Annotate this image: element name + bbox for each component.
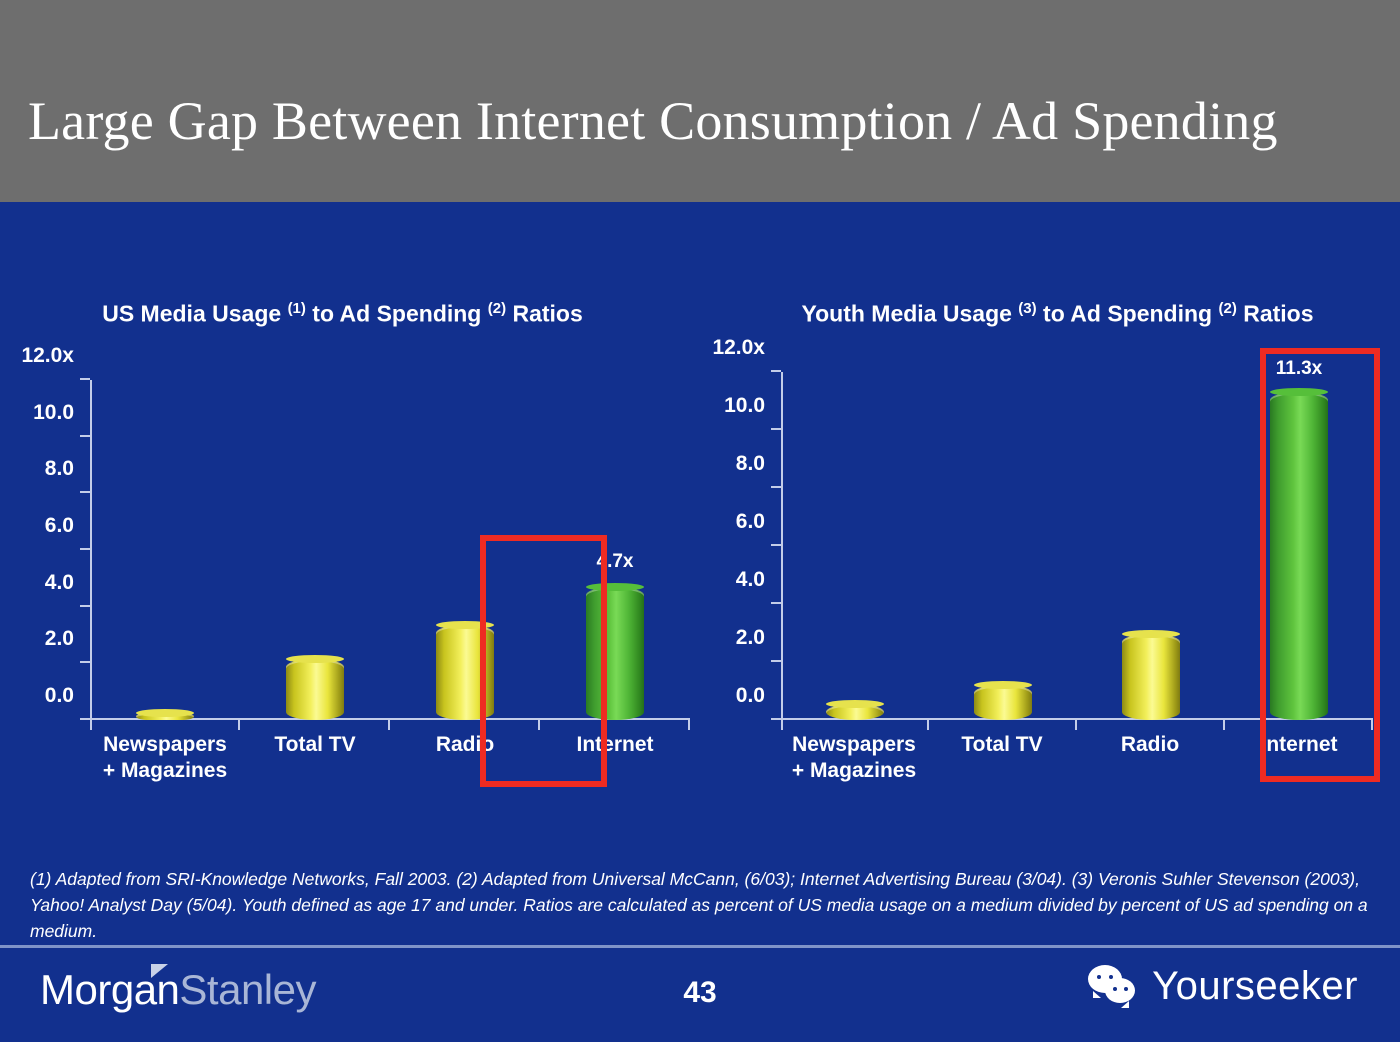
wechat-eye <box>1109 975 1113 979</box>
bar-newspapers-magazines <box>826 704 884 720</box>
y-tick-0 <box>771 718 781 720</box>
y-tick-0 <box>80 718 90 720</box>
chart-title-part-c: Ratios <box>506 301 583 327</box>
slide-header: Large Gap Between Internet Consumption /… <box>0 0 1400 202</box>
x-tick-0 <box>781 720 783 730</box>
x-tick-1 <box>927 720 929 730</box>
y-tick-label-2: 2.0 <box>45 627 74 651</box>
x-label-newspapers-magazines: Newspapers + Magazines <box>103 732 227 784</box>
highlight-box-internet <box>1260 348 1380 782</box>
chart-panel-youth-media-usage: Youth Media Usage (3) to Ad Spending (2)… <box>715 202 1400 842</box>
y-tick-8 <box>80 491 90 493</box>
y-tick-4 <box>771 602 781 604</box>
x-tick-0 <box>90 720 92 730</box>
y-tick-label-6: 6.0 <box>45 514 74 538</box>
y-tick-8 <box>771 486 781 488</box>
bar-total-tv <box>286 659 344 720</box>
footnote-ref-2b: (2) <box>1218 300 1236 317</box>
bar-cap <box>974 681 1032 689</box>
y-tick-6 <box>771 544 781 546</box>
y-tick-label-8: 8.0 <box>736 452 765 476</box>
chart-title-part-a: Youth Media Usage <box>801 301 1018 327</box>
x-tick-3 <box>1223 720 1225 730</box>
bar-total-tv <box>974 685 1032 720</box>
y-tick-6 <box>80 548 90 550</box>
wechat-eye <box>1124 987 1128 991</box>
bar-cap <box>826 700 884 708</box>
y-axis-line <box>781 372 783 720</box>
chart-title-part-a: US Media Usage <box>102 301 287 327</box>
footnote-ref-3: (3) <box>1018 300 1036 317</box>
y-tick-label-12: 12.0x <box>712 336 765 360</box>
footnotes: (1) Adapted from SRI-Knowledge Networks,… <box>30 866 1370 944</box>
x-label-total-tv: Total TV <box>961 732 1042 758</box>
y-tick-2 <box>771 660 781 662</box>
x-label-line-2: + Magazines <box>792 758 916 784</box>
bar-newspapers-magazines <box>136 713 194 720</box>
x-tick-1 <box>238 720 240 730</box>
wechat-eye <box>1097 975 1101 979</box>
y-tick-label-10: 10.0 <box>724 394 765 418</box>
y-tick-label-2: 2.0 <box>736 626 765 650</box>
bar-radio <box>1122 634 1180 720</box>
y-tick-12 <box>80 378 90 380</box>
yourseeker-brand: Yourseeker <box>1088 964 1358 1009</box>
y-tick-2 <box>80 661 90 663</box>
bar-cap <box>286 655 344 663</box>
x-label-line-1: Newspapers <box>103 732 227 758</box>
x-label-line-2: + Magazines <box>103 758 227 784</box>
x-label-radio: Radio <box>1121 732 1179 758</box>
wechat-bubble-small <box>1105 978 1135 1003</box>
wechat-icon <box>1088 965 1140 1009</box>
y-tick-label-8: 8.0 <box>45 457 74 481</box>
y-tick-label-6: 6.0 <box>736 510 765 534</box>
chart-title-part-b: to Ad Spending <box>306 301 488 327</box>
y-tick-label-0: 0.0 <box>45 684 74 708</box>
y-tick-4 <box>80 605 90 607</box>
wechat-eye <box>1113 987 1117 991</box>
y-tick-label-12: 12.0x <box>21 344 74 368</box>
x-tick-2 <box>1075 720 1077 730</box>
footnote-ref-2: (2) <box>488 300 506 317</box>
brand-name-text: Yourseeker <box>1152 964 1358 1009</box>
footnote-ref-1: (1) <box>288 300 306 317</box>
bar-cap <box>136 709 194 717</box>
slide: Large Gap Between Internet Consumption /… <box>0 0 1400 1042</box>
chart-panel-us-media-usage: US Media Usage (1) to Ad Spending (2) Ra… <box>0 202 715 842</box>
y-tick-12 <box>771 370 781 372</box>
slide-footer: MorganStanley 43 Yourseeker <box>0 948 1400 1042</box>
y-tick-label-0: 0.0 <box>736 684 765 708</box>
x-tick-4 <box>688 720 690 730</box>
y-tick-label-4: 4.0 <box>45 571 74 595</box>
chart-title-part-c: Ratios <box>1237 301 1314 327</box>
x-label-newspapers-magazines: Newspapers + Magazines <box>792 732 916 784</box>
page-title: Large Gap Between Internet Consumption /… <box>28 90 1278 152</box>
chart-title-us-media-usage: US Media Usage (1) to Ad Spending (2) Ra… <box>0 292 715 331</box>
chart-title-part-b: to Ad Spending <box>1037 301 1219 327</box>
bar-cap <box>1122 630 1180 638</box>
y-tick-10 <box>771 428 781 430</box>
y-axis-line <box>90 380 92 720</box>
y-tick-label-4: 4.0 <box>736 568 765 592</box>
chart-title-youth-media-usage: Youth Media Usage (3) to Ad Spending (2)… <box>715 292 1400 331</box>
y-tick-10 <box>80 435 90 437</box>
y-tick-label-10: 10.0 <box>33 401 74 425</box>
x-label-total-tv: Total TV <box>274 732 355 758</box>
x-tick-2 <box>388 720 390 730</box>
x-label-line-1: Newspapers <box>792 732 916 758</box>
highlight-box-internet <box>480 535 607 787</box>
